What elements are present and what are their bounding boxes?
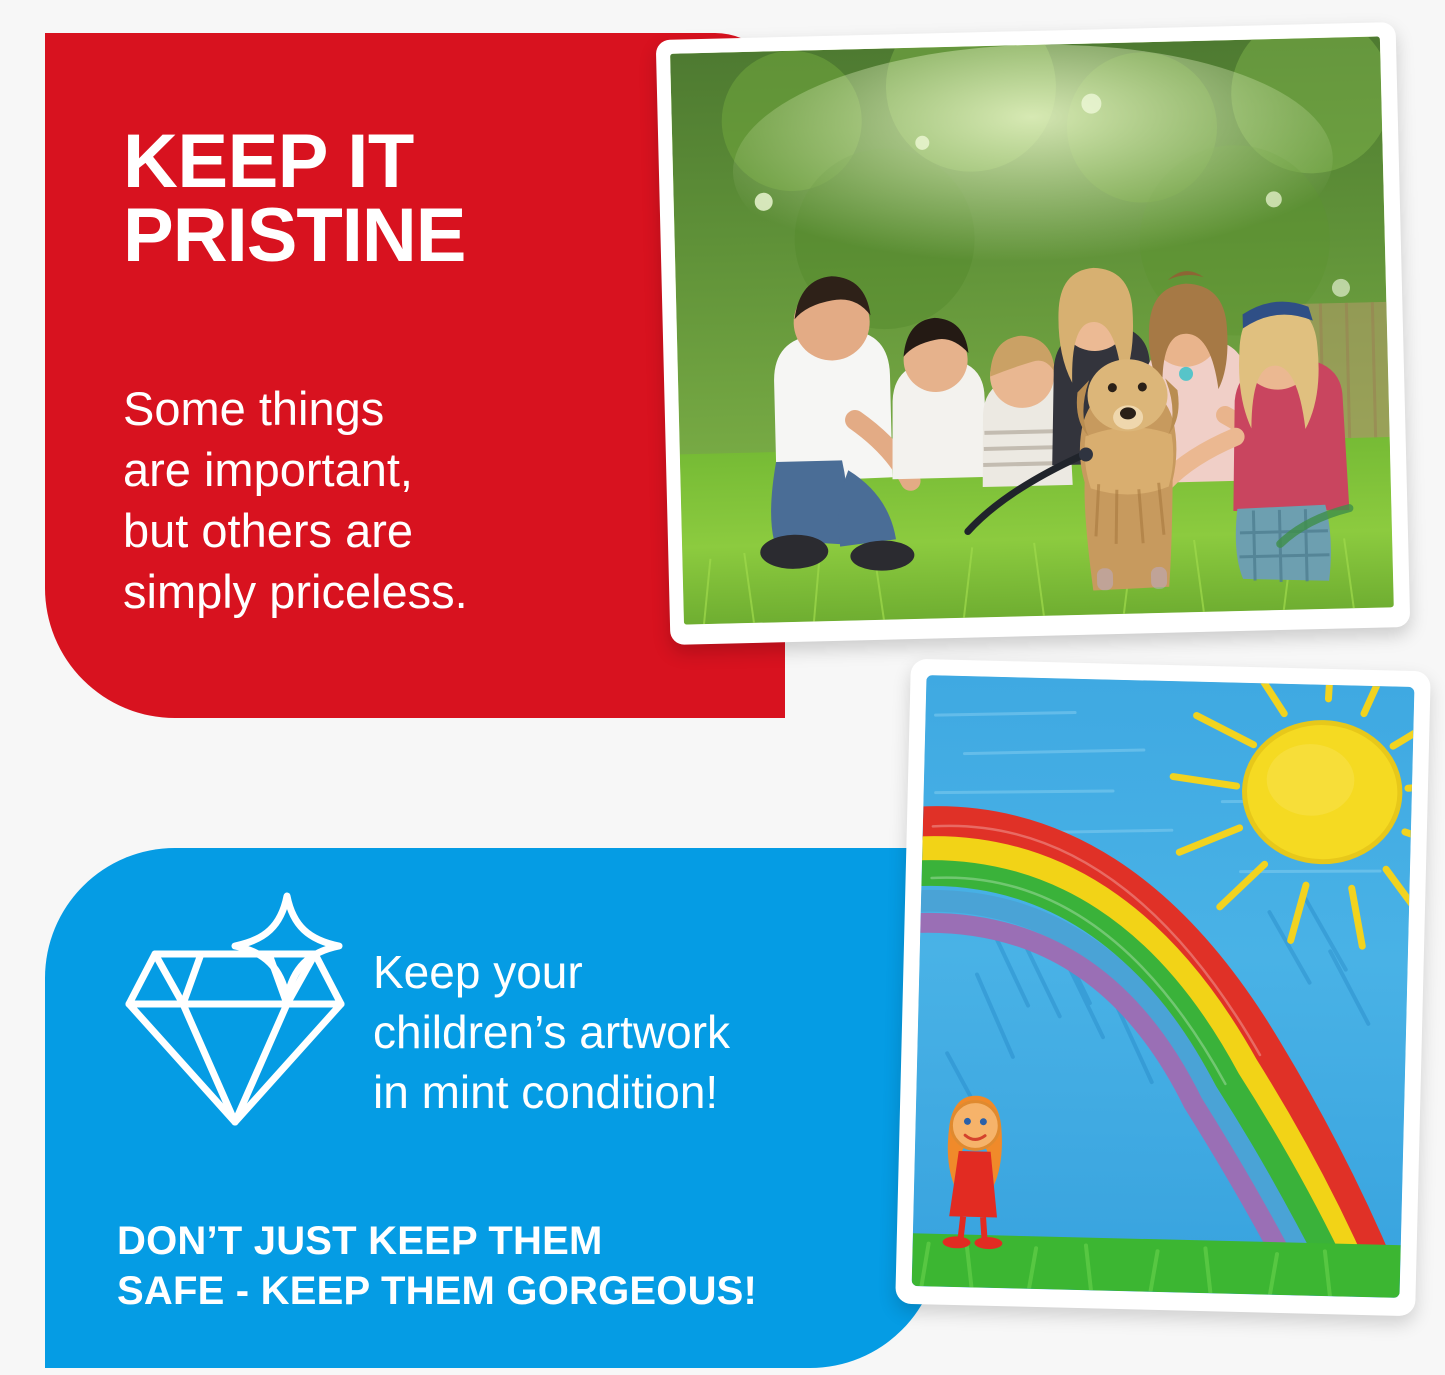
childs-crayon-drawing (912, 675, 1415, 1298)
red-panel-heading: KEEP IT PRISTINE (123, 125, 643, 274)
red-heading-line-1: KEEP IT (123, 119, 414, 204)
childs-artwork-card (895, 659, 1431, 1317)
family-with-dog-photo (670, 36, 1394, 624)
blue-tagline-line-1: DON’T JUST KEEP THEM (117, 1216, 917, 1266)
blue-panel-tagline: DON’T JUST KEEP THEM SAFE - KEEP THEM GO… (117, 1216, 917, 1317)
red-panel-body: Some things are important, but others ar… (123, 378, 643, 622)
red-heading-line-2: PRISTINE (123, 199, 643, 273)
red-body-line-2: are important, (123, 439, 643, 500)
blue-body-line-1: Keep your (373, 943, 893, 1003)
blue-body-line-3: in mint condition! (373, 1063, 893, 1123)
blue-body-line-2: children’s artwork (373, 1003, 893, 1063)
family-with-dog-photo-card (656, 22, 1411, 645)
blue-feature-panel: Keep your children’s artwork in mint con… (45, 848, 940, 1368)
red-body-line-3: but others are (123, 500, 643, 561)
red-body-line-4: simply priceless. (123, 561, 643, 622)
diamond-sparkle-icon (115, 886, 355, 1131)
blue-tagline-line-2: SAFE - KEEP THEM GORGEOUS! (117, 1266, 917, 1316)
poster-canvas: KEEP IT PRISTINE Some things are importa… (0, 0, 1445, 1375)
red-body-line-1: Some things (123, 378, 643, 439)
blue-panel-body: Keep your children’s artwork in mint con… (373, 943, 893, 1122)
